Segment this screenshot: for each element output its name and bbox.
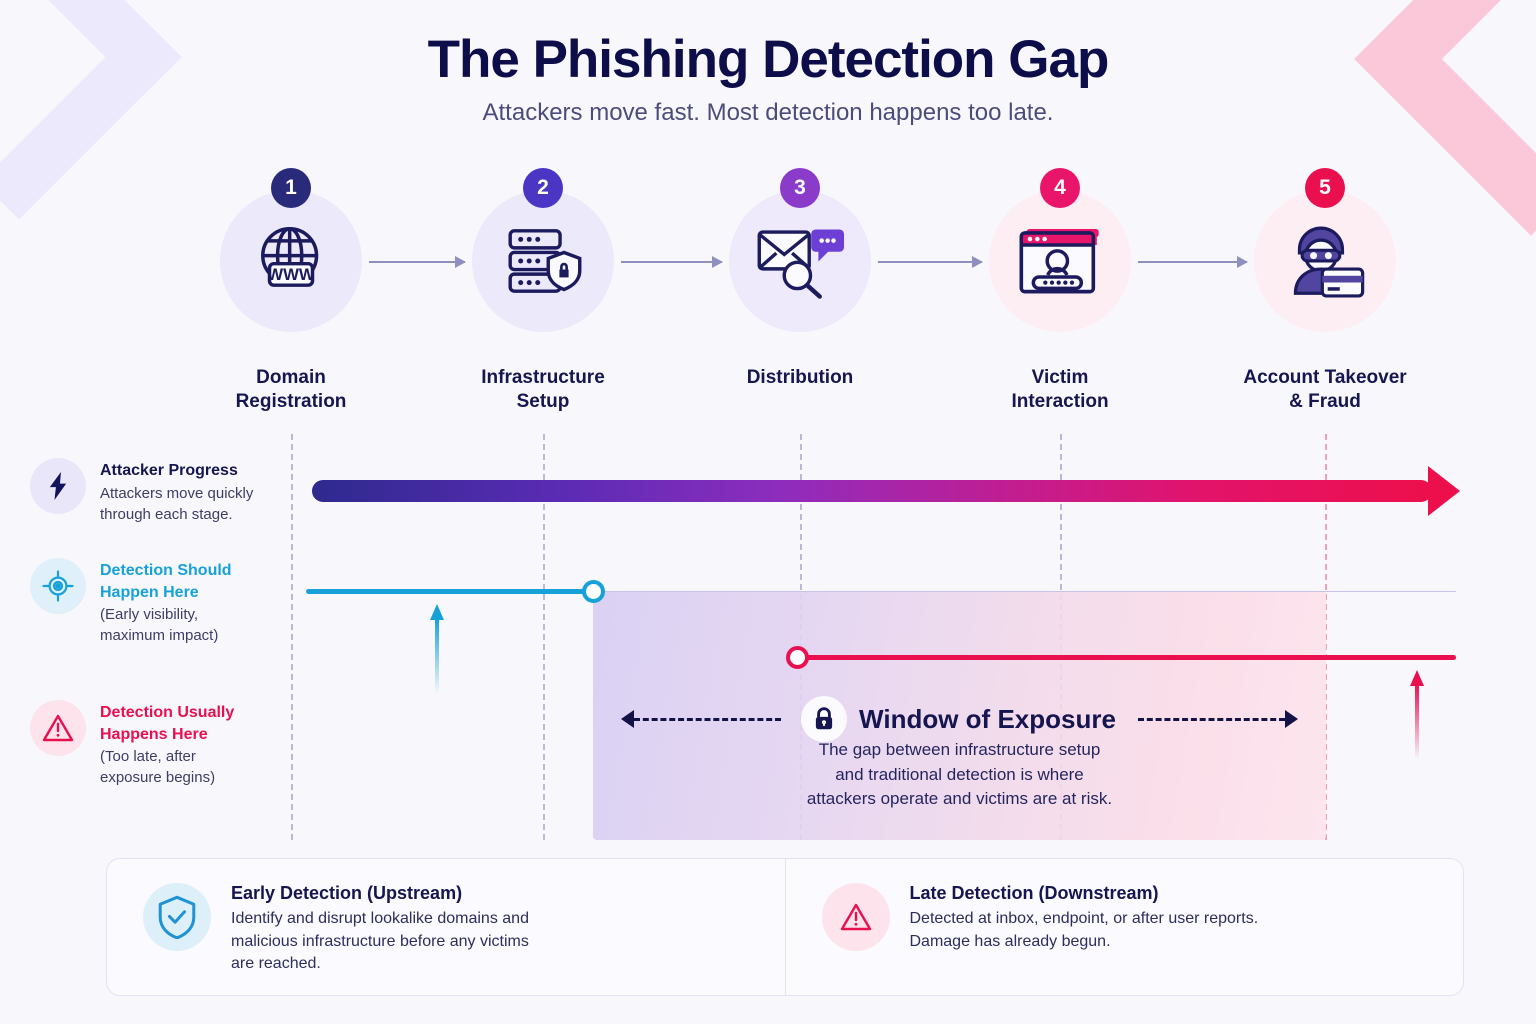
legend-subtitle: Attackers move quickly through each stag…: [100, 483, 253, 526]
stage-connector-arrow: [1138, 261, 1247, 263]
page-subtitle: Attackers move fast. Most detection happ…: [0, 99, 1536, 127]
page-title: The Phishing Detection Gap: [0, 30, 1536, 89]
warning-triangle-icon: [30, 700, 86, 756]
stage-label: Distribution: [685, 366, 915, 390]
stage-label: Account Takeover & Fraud: [1210, 366, 1440, 415]
stage-connector-arrow: [878, 261, 982, 263]
legend-title: Attacker Progress: [100, 460, 253, 482]
detection-should-line: [306, 589, 594, 594]
detection-card: Early Detection (Upstream)Identify and d…: [107, 859, 785, 995]
window-of-exposure-description: The gap between infrastructure setup and…: [593, 738, 1326, 812]
card-description: Detected at inbox, endpoint, or after us…: [910, 908, 1259, 953]
window-of-exposure-title: Window of Exposure: [859, 704, 1116, 735]
detection-usually-up-arrow: [1409, 670, 1425, 760]
legend-subtitle: (Early visibility, maximum impact): [100, 604, 232, 647]
detection-card: Late Detection (Downstream)Detected at i…: [785, 859, 1464, 995]
attacker-progress-arrowhead: [1428, 466, 1460, 516]
stage-label: Infrastructure Setup: [428, 366, 658, 415]
stage-number-badge: 5: [1305, 168, 1345, 208]
stage-number-badge: 2: [523, 168, 563, 208]
legend-row: Attacker ProgressAttackers move quickly …: [30, 458, 305, 525]
stage-connector-arrow: [369, 261, 465, 263]
exposure-right-arrow: [1138, 710, 1298, 728]
legend-title: Detection Should Happen Here: [100, 560, 232, 603]
card-title: Late Detection (Downstream): [910, 883, 1259, 904]
lightning-bolt-icon: [30, 458, 86, 514]
legend-row: Detection Usually Happens Here(Too late,…: [30, 700, 305, 789]
stage-number-badge: 3: [780, 168, 820, 208]
infographic-canvas: The Phishing Detection Gap Attackers mov…: [0, 0, 1536, 1024]
attacker-progress-bar: [312, 480, 1432, 502]
shield-check-icon: [143, 883, 211, 951]
stage-number-badge: 4: [1040, 168, 1080, 208]
card-title: Early Detection (Upstream): [231, 883, 529, 904]
thief-credit-card-icon: [1254, 190, 1396, 332]
browser-login-icon: [989, 190, 1131, 332]
detection-should-up-arrow: [429, 604, 445, 694]
stage-label: Victim Interaction: [945, 366, 1175, 415]
legend-row: Detection Should Happen Here(Early visib…: [30, 558, 305, 647]
stage-connector-arrow: [621, 261, 722, 263]
svg-text:WWW: WWW: [267, 265, 315, 284]
header: The Phishing Detection Gap Attackers mov…: [0, 30, 1536, 127]
lock-icon: [801, 696, 847, 742]
server-shield-lock-icon: [472, 190, 614, 332]
envelope-magnifier-icon: [729, 190, 871, 332]
legend-title: Detection Usually Happens Here: [100, 702, 234, 745]
legend-subtitle: (Too late, after exposure begins): [100, 746, 234, 789]
globe-www-icon: WWW: [220, 190, 362, 332]
card-description: Identify and disrupt lookalike domains a…: [231, 908, 529, 976]
target-crosshair-icon: [30, 558, 86, 614]
window-of-exposure-content: Window of Exposure The gap between infra…: [593, 592, 1326, 840]
stage-row: 1 WWW Domain Registration2 Infrastructu: [0, 168, 1536, 428]
detection-summary-cards: Early Detection (Upstream)Identify and d…: [106, 858, 1464, 996]
exposure-left-arrow: [621, 710, 781, 728]
stage-label: Domain Registration: [176, 366, 406, 415]
warning-triangle-icon: [822, 883, 890, 951]
stage-number-badge: 1: [271, 168, 311, 208]
